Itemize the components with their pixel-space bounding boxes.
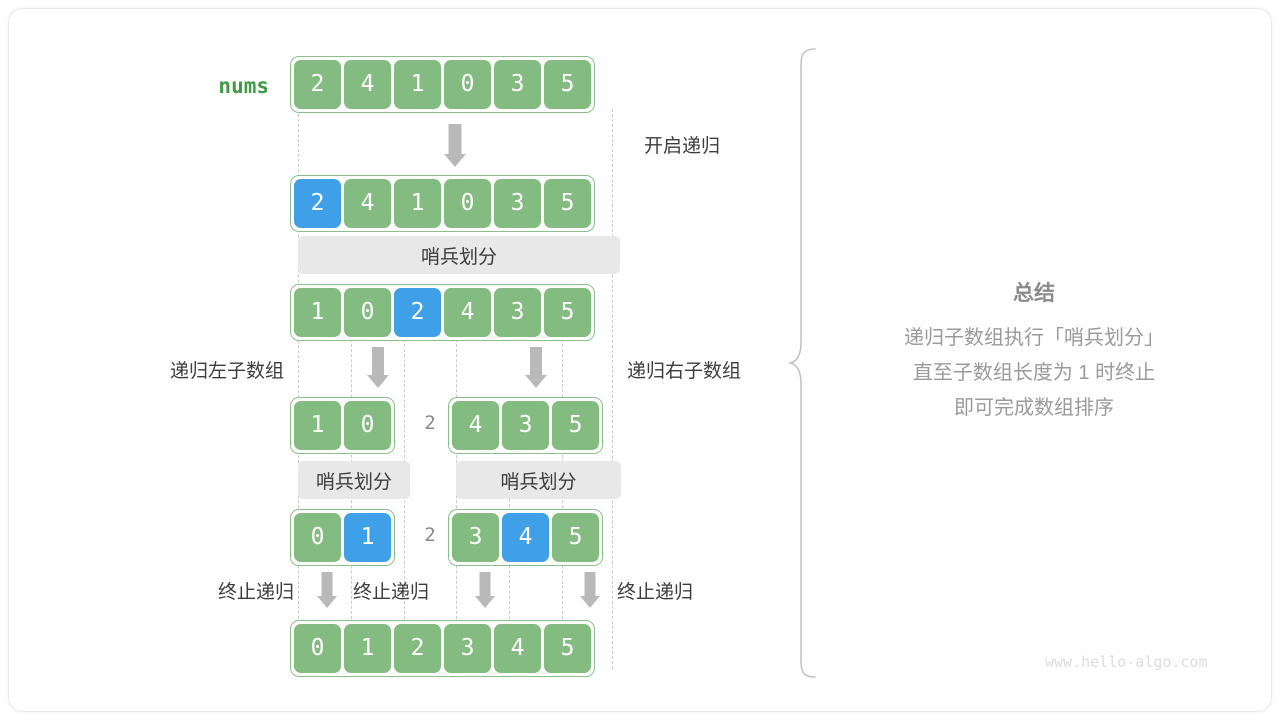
label-terminate-1: 终止递归 (104, 577, 294, 604)
down-arrow-start-recursion (441, 124, 469, 168)
array-cell: 4 (494, 624, 541, 673)
diagram-frame: nums 2 4 1 0 3 5 开启递归 2 4 1 0 3 5 哨兵划分 1… (8, 8, 1272, 712)
summary-line: 即可完成数组排序 (839, 391, 1229, 420)
array-cell: 4 (344, 60, 391, 109)
array-cell: 5 (552, 401, 599, 450)
array-row-after-partition: 1 0 2 4 3 5 (290, 284, 595, 341)
array-cell: 3 (452, 513, 499, 562)
array-row-final-sorted: 0 1 2 3 4 5 (290, 620, 595, 677)
label-recurse-left: 递归左子数组 (64, 356, 284, 383)
partition-bar-right: 哨兵划分 (456, 461, 621, 499)
array-name-label: nums (149, 74, 269, 98)
array-cell: 4 (452, 401, 499, 450)
array-cell: 2 (394, 624, 441, 673)
array-cell: 0 (344, 401, 391, 450)
array-cell: 3 (494, 179, 541, 228)
array-cell: 5 (544, 288, 591, 337)
array-cell: 0 (294, 513, 341, 562)
array-cell: 1 (294, 401, 341, 450)
array-cell: 3 (494, 60, 541, 109)
array-cell: 0 (444, 179, 491, 228)
array-row-left-partitioned: 0 1 (290, 509, 395, 566)
array-row-right-sub: 4 3 5 (448, 397, 603, 454)
label-terminate-3: 终止递归 (617, 577, 693, 604)
array-cell: 3 (444, 624, 491, 673)
array-row-initial: 2 4 1 0 3 5 (290, 56, 595, 113)
down-arrow-recurse-right (522, 347, 550, 389)
summary-title: 总结 (839, 277, 1229, 307)
array-cell-pivot: 2 (394, 288, 441, 337)
array-cell: 5 (544, 624, 591, 673)
watermark: www.hello-algo.com (1045, 653, 1208, 671)
loose-pivot-value-upper: 2 (409, 412, 451, 434)
array-cell: 2 (294, 60, 341, 109)
array-cell-pivot: 1 (344, 513, 391, 562)
diagram-stage: nums 2 4 1 0 3 5 开启递归 2 4 1 0 3 5 哨兵划分 1… (9, 9, 1273, 713)
array-row-left-sub: 1 0 (290, 397, 395, 454)
array-cell: 1 (344, 624, 391, 673)
array-cell-pivot: 2 (294, 179, 341, 228)
array-cell: 0 (344, 288, 391, 337)
array-cell: 3 (494, 288, 541, 337)
loose-pivot-value-lower: 2 (409, 524, 451, 546)
array-cell: 5 (552, 513, 599, 562)
array-cell: 5 (544, 60, 591, 109)
down-arrow-terminate-2 (473, 572, 497, 608)
array-cell: 0 (294, 624, 341, 673)
label-start-recursion: 开启递归 (644, 131, 720, 158)
array-row-right-partitioned: 3 4 5 (448, 509, 603, 566)
summary-line: 直至子数组长度为 1 时终止 (839, 356, 1229, 385)
array-cell: 1 (394, 60, 441, 109)
down-arrow-terminate-1 (315, 572, 339, 608)
summary-brace (787, 47, 823, 679)
partition-bar-left: 哨兵划分 (298, 461, 410, 499)
array-cell: 1 (294, 288, 341, 337)
down-arrow-recurse-left (364, 347, 392, 389)
array-cell: 0 (444, 60, 491, 109)
partition-bar-full: 哨兵划分 (298, 236, 620, 274)
array-cell: 4 (344, 179, 391, 228)
array-cell: 5 (544, 179, 591, 228)
array-cell-pivot: 4 (502, 513, 549, 562)
array-cell: 1 (394, 179, 441, 228)
down-arrow-terminate-3 (578, 572, 602, 608)
array-cell: 4 (444, 288, 491, 337)
summary-line: 递归子数组执行「哨兵划分」 (839, 321, 1229, 350)
guide-line-right (612, 109, 613, 669)
label-recurse-right: 递归右子数组 (627, 356, 741, 383)
array-row-pivot-selected: 2 4 1 0 3 5 (290, 175, 595, 232)
label-terminate-2: 终止递归 (353, 577, 429, 604)
array-cell: 3 (502, 401, 549, 450)
